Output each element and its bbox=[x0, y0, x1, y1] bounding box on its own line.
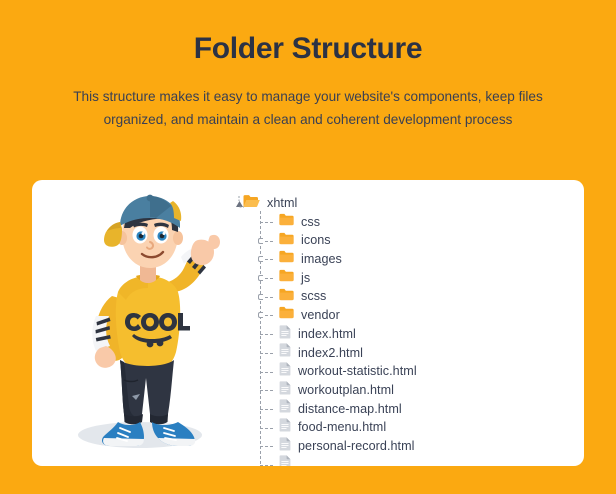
file-icon bbox=[279, 455, 291, 466]
tree-node-marker bbox=[258, 238, 263, 244]
folder-icon bbox=[279, 232, 294, 250]
tree-node-marker bbox=[258, 275, 263, 281]
tree-node-folder[interactable]: js bbox=[279, 269, 565, 288]
folder-icon bbox=[279, 213, 294, 231]
file-icon bbox=[279, 381, 291, 400]
tree-node-file[interactable]: workoutplan.html bbox=[279, 381, 565, 400]
tree-node-root[interactable]: xhtml bbox=[235, 194, 565, 213]
tree-node-file[interactable] bbox=[279, 456, 565, 466]
content-card: xhtml css bbox=[32, 180, 584, 466]
tree-node-folder[interactable]: css bbox=[279, 213, 565, 232]
tree-node-label: distance-map.html bbox=[298, 403, 402, 416]
folder-icon bbox=[279, 306, 294, 324]
page-title: Folder Structure bbox=[0, 30, 616, 68]
tree-node-folder[interactable]: scss bbox=[279, 287, 565, 306]
folder-icon bbox=[279, 250, 294, 268]
file-icon bbox=[279, 343, 291, 362]
tree-node-label: index.html bbox=[298, 328, 356, 341]
tree-node-label: xhtml bbox=[267, 197, 297, 210]
tree-node-folder[interactable]: images bbox=[279, 250, 565, 269]
tree-node-marker bbox=[258, 294, 263, 300]
illustration-cartoon-boy bbox=[60, 188, 235, 456]
file-icon bbox=[279, 418, 291, 437]
folder-icon bbox=[279, 288, 294, 306]
file-icon bbox=[279, 399, 291, 418]
file-icon bbox=[279, 325, 291, 344]
tree-node-file[interactable]: index.html bbox=[279, 325, 565, 344]
folder-icon bbox=[279, 269, 294, 287]
page-subtitle: This structure makes it easy to manage y… bbox=[43, 85, 573, 132]
tree-collapse-handle-icon[interactable] bbox=[235, 196, 244, 209]
tree-node-file[interactable]: distance-map.html bbox=[279, 400, 565, 419]
header: Folder Structure This structure makes it… bbox=[0, 0, 616, 132]
tree-node-folder[interactable]: icons bbox=[279, 231, 565, 250]
folder-tree: xhtml css bbox=[235, 194, 565, 466]
page-root: Folder Structure This structure makes it… bbox=[0, 0, 616, 494]
tree-children-container: css icons bbox=[260, 213, 565, 466]
tree-node-label: js bbox=[301, 272, 310, 285]
tree-node-label: images bbox=[301, 253, 342, 266]
tree-node-label: css bbox=[301, 216, 320, 229]
tree-node-marker bbox=[258, 256, 263, 262]
tree-node-label: scss bbox=[301, 290, 326, 303]
tree-node-file[interactable]: food-menu.html bbox=[279, 418, 565, 437]
tree-node-label: workout-statistic.html bbox=[298, 365, 417, 378]
file-icon bbox=[279, 437, 291, 456]
tree-node-file[interactable]: personal-record.html bbox=[279, 437, 565, 456]
file-icon bbox=[279, 362, 291, 381]
tree-node-label: icons bbox=[301, 234, 331, 247]
tree-node-label: vendor bbox=[301, 309, 340, 322]
tree-node-label: index2.html bbox=[298, 347, 363, 360]
tree-node-folder[interactable]: vendor bbox=[279, 306, 565, 325]
tree-node-label: workoutplan.html bbox=[298, 384, 394, 397]
tree-node-label: personal-record.html bbox=[298, 440, 415, 453]
tree-node-file[interactable]: index2.html bbox=[279, 344, 565, 363]
tree-node-marker bbox=[258, 312, 263, 318]
tree-node-file[interactable]: workout-statistic.html bbox=[279, 362, 565, 381]
folder-open-icon bbox=[243, 194, 260, 213]
tree-node-label: food-menu.html bbox=[298, 421, 386, 434]
